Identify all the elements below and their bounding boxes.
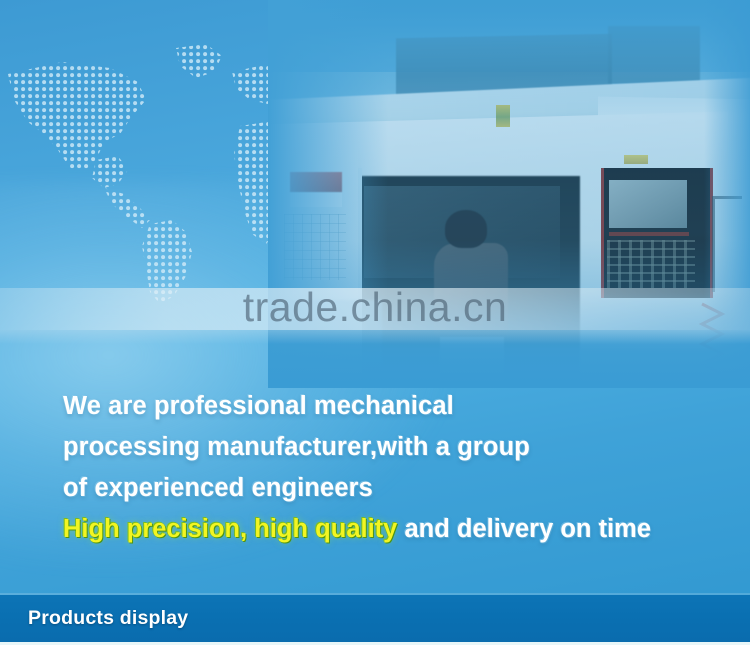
section-title: Products display [28,607,188,630]
copy-line-3: of experienced engineers [63,468,723,509]
marketing-copy: We are professional mechanical processin… [63,386,723,550]
copy-highlight-text: High precision, high quality [63,515,397,543]
copy-line-2: processing manufacturer,with a group [63,427,723,468]
copy-line-4-rest: and delivery on time [397,515,651,543]
copy-line-4: High precision, high quality and deliver… [63,509,723,550]
copy-line-1: We are professional mechanical [63,386,723,427]
watermark-light-band-soft [0,330,750,344]
promo-banner: trade.china.cn We are professional mecha… [0,0,750,645]
watermark-light-band [0,288,750,330]
products-display-bar: Products display [0,595,750,642]
